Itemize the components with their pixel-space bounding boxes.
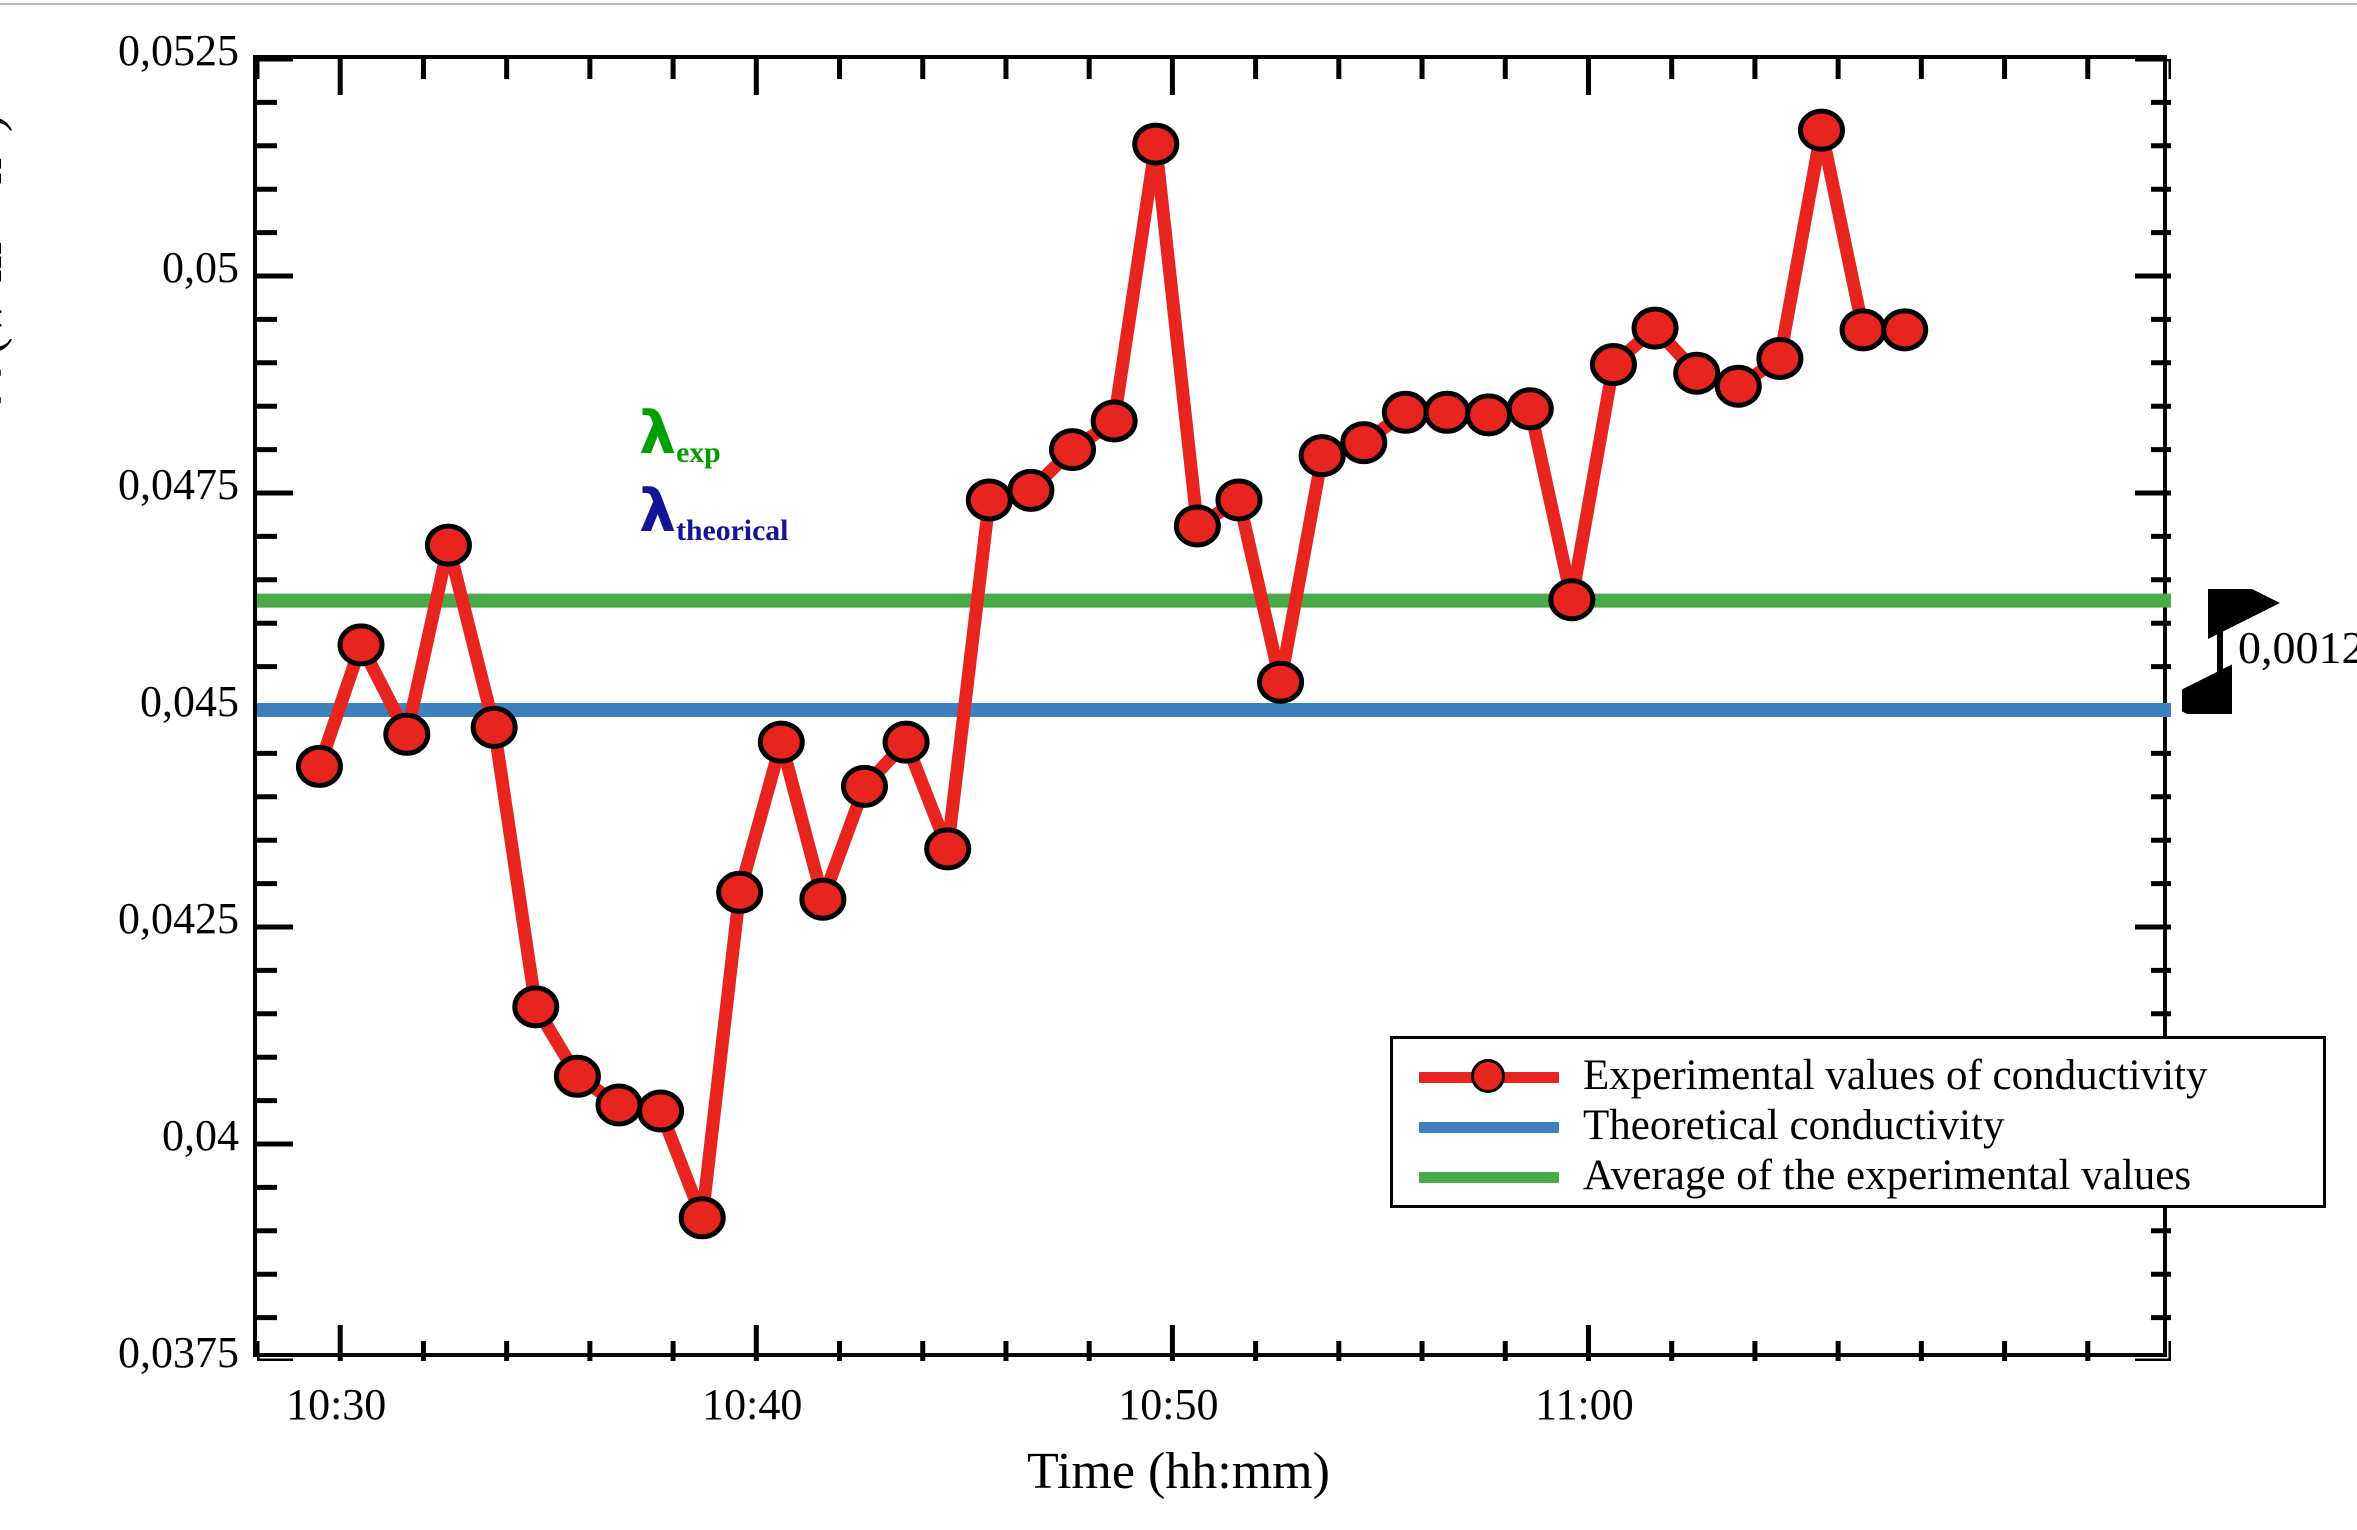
y-tick-label: 0,0425	[9, 893, 239, 944]
data-point-marker	[1093, 402, 1135, 440]
x-tick-label: 11:00	[1454, 1379, 1714, 1430]
data-point-marker	[340, 626, 382, 664]
y-tick-label: 0,0375	[9, 1327, 239, 1378]
x-tick-label: 10:40	[622, 1379, 882, 1430]
lambda-symbol: λ	[0, 368, 16, 406]
data-point-marker	[556, 1057, 598, 1095]
data-point-marker	[1343, 424, 1385, 462]
lambda-theorical-symbol: λ	[639, 477, 676, 545]
data-point-marker	[1468, 396, 1510, 434]
x-tick-label: 10:30	[206, 1379, 466, 1430]
legend-marker-icon	[1471, 1059, 1505, 1093]
delta-value-label: 0,0012	[2238, 621, 2357, 674]
legend-swatch	[1393, 1153, 1583, 1199]
reference-lines	[257, 601, 2171, 710]
data-point-marker	[1676, 354, 1718, 392]
data-point-marker	[802, 880, 844, 918]
data-point-marker	[1884, 311, 1926, 349]
legend-label: Theoretical conductivity	[1583, 1103, 2004, 1149]
legend-label: Average of the experimental values	[1583, 1153, 2191, 1199]
lambda-exp-subscript: exp	[676, 436, 721, 469]
x-tick-label: 10:50	[1038, 1379, 1298, 1430]
legend-swatch	[1393, 1053, 1583, 1099]
data-point-marker	[719, 873, 761, 911]
data-point-marker	[473, 708, 515, 746]
data-point-marker	[927, 830, 969, 868]
y-tick-label: 0,0525	[9, 25, 239, 76]
lambda-exp-symbol: λ	[639, 399, 676, 467]
data-point-marker	[760, 723, 802, 761]
data-point-marker	[968, 481, 1010, 519]
data-point-marker	[1509, 390, 1551, 428]
data-point-marker	[598, 1086, 640, 1124]
data-point-marker	[1717, 367, 1759, 405]
data-point-marker	[1759, 339, 1801, 377]
data-point-marker	[515, 988, 557, 1026]
data-point-marker	[386, 715, 428, 753]
data-point-marker	[681, 1199, 723, 1237]
data-point-marker	[1592, 346, 1634, 384]
data-point-marker	[1426, 393, 1468, 431]
data-point-marker	[1842, 311, 1884, 349]
data-point-marker	[1176, 507, 1218, 545]
data-point-marker	[1052, 431, 1094, 469]
data-point-marker	[1218, 481, 1260, 519]
data-point-marker	[640, 1092, 682, 1130]
plot-area: λexp λtheorical Experimental values of c…	[253, 55, 2167, 1357]
y-axis-title: λ (w·m-1· k-1)	[0, 0, 16, 560]
x-axis-title: Time (hh:mm)	[0, 1442, 2357, 1501]
data-point-marker	[1010, 471, 1052, 509]
page-top-rule	[0, 3, 2357, 5]
legend-line-icon	[1419, 1122, 1559, 1133]
data-point-marker	[843, 767, 885, 805]
y-axis-units: (w·m-1· k-1)	[0, 115, 13, 368]
figure-root: 0,05250,050,04750,0450,04250,040,0375 10…	[0, 0, 2357, 1530]
legend-item[interactable]: Theoretical conductivity	[1393, 1103, 2323, 1149]
lambda-exp-annotation: λexp	[639, 399, 721, 467]
data-point-marker	[1634, 309, 1676, 347]
legend: Experimental values of conductivityTheor…	[1390, 1036, 2326, 1208]
data-point-marker	[427, 526, 469, 564]
data-point-marker	[885, 723, 927, 761]
lambda-theorical-annotation: λtheorical	[639, 477, 788, 545]
data-point-marker	[298, 747, 340, 785]
y-tick-label: 0,045	[9, 676, 239, 727]
data-point-marker	[1301, 437, 1343, 475]
data-point-marker	[1384, 393, 1426, 431]
y-tick-label: 0,04	[9, 1110, 239, 1161]
legend-swatch	[1393, 1103, 1583, 1149]
legend-item[interactable]: Average of the experimental values	[1393, 1153, 2323, 1199]
y-tick-label: 0,05	[9, 242, 239, 293]
data-point-marker	[1800, 111, 1842, 149]
legend-label: Experimental values of conductivity	[1583, 1053, 2208, 1099]
data-point-marker	[1135, 125, 1177, 163]
data-point-marker	[1551, 581, 1593, 619]
y-tick-label: 0,0475	[9, 459, 239, 510]
data-point-marker	[1260, 663, 1302, 701]
lambda-theorical-subscript: theorical	[676, 514, 788, 547]
legend-item[interactable]: Experimental values of conductivity	[1393, 1053, 2323, 1099]
legend-line-icon	[1419, 1172, 1559, 1183]
